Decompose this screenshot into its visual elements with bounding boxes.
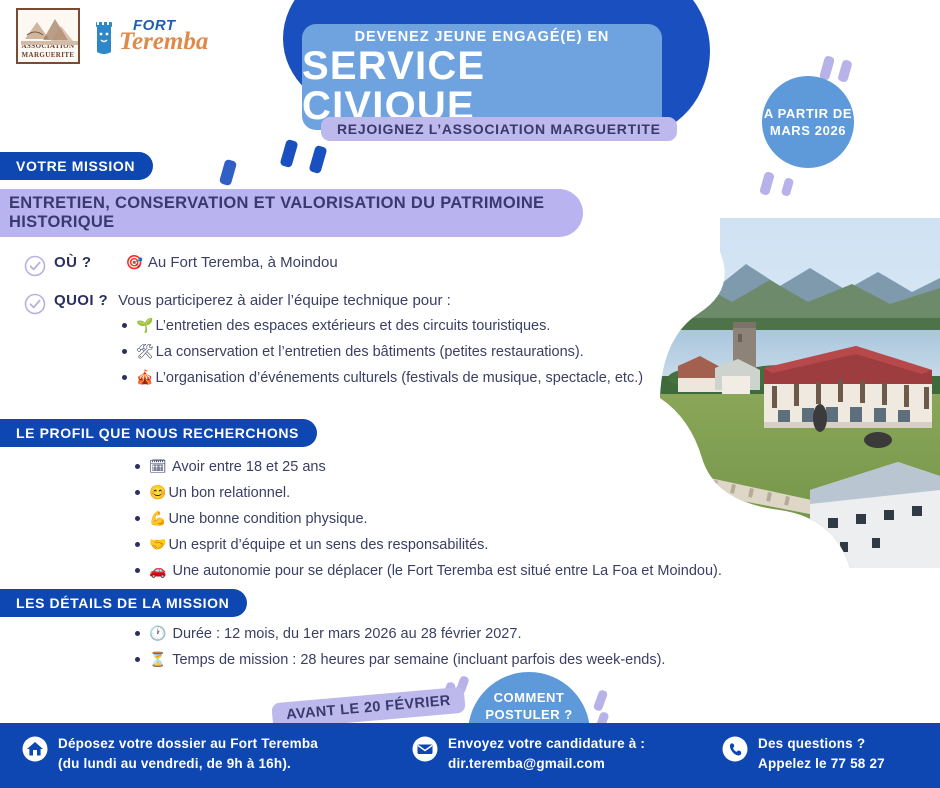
association-sketch-icon <box>21 13 79 45</box>
list-item: 🗓 Avoir entre 18 et 25 ans <box>133 455 833 479</box>
list-item: ⏳ Temps de mission : 28 heures par semai… <box>133 648 833 672</box>
fort-logo-word2: Teremba <box>119 29 208 54</box>
list-item-text: Durée : 12 mois, du 1er mars 2026 au 28 … <box>172 626 521 642</box>
what-label: QUOI ? <box>54 292 108 309</box>
handshake-icon: 🤝 <box>149 536 166 552</box>
badge-line2: MARS 2026 <box>770 122 846 139</box>
hourglass-icon: ⏳ <box>149 651 166 667</box>
footer-phone-number[interactable]: Appelez le 77 58 27 <box>758 754 885 774</box>
list-item-text: Avoir entre 18 et 25 ans <box>172 459 326 475</box>
smiley-icon: 😊 <box>149 484 166 500</box>
details-list: 🕐 Durée : 12 mois, du 1er mars 2026 au 2… <box>133 622 833 674</box>
calendar-icon: 🗓 <box>149 458 167 474</box>
list-item: 🤝Un esprit d’équipe et un sens des respo… <box>133 533 833 557</box>
list-item: 🚗 Une autonomie pour se déplacer (le For… <box>133 559 833 583</box>
list-item: 🕐 Durée : 12 mois, du 1er mars 2026 au 2… <box>133 622 833 646</box>
list-item: 🛠La conservation et l’entretien des bâti… <box>120 340 680 364</box>
header-kicker: DEVENEZ JEUNE ENGAGÉ(E) EN <box>355 29 610 45</box>
clock-icon: 🕐 <box>149 625 166 641</box>
list-item: 😊Un bon relationnel. <box>133 481 833 505</box>
header-dash-3 <box>280 139 299 168</box>
footer-mail-address[interactable]: dir.teremba@gmail.com <box>448 754 645 774</box>
check-circle-icon <box>24 293 46 315</box>
badge-dash-2 <box>837 59 853 83</box>
apply-circle-line1: COMMENT <box>494 689 565 706</box>
apply-circle-line2: POSTULER ? <box>485 706 572 723</box>
seedling-icon: 🌱 <box>136 317 153 333</box>
section-tag-details: LES DÉTAILS DE LA MISSION <box>0 589 247 617</box>
fort-teremba-tower-icon <box>94 16 114 56</box>
car-icon: 🚗 <box>149 562 166 578</box>
footer-phone-line1: Des questions ? <box>758 734 885 754</box>
envelope-icon <box>412 736 438 762</box>
badge-dash-3 <box>759 171 775 196</box>
list-item-text: La conservation et l’entretien des bâtim… <box>156 344 584 360</box>
list-item-text: Une bonne condition physique. <box>168 511 367 527</box>
logo-bar: ASSOCIATION MARGUERITE FORT Teremba <box>16 8 208 64</box>
footer-phone-item[interactable]: Des questions ? Appelez le 77 58 27 <box>722 734 885 774</box>
target-icon: 🎯 <box>125 254 142 271</box>
tools-icon: 🛠 <box>136 343 154 359</box>
muscle-icon: 💪 <box>149 510 166 526</box>
start-date-badge: A PARTIR DE MARS 2026 <box>762 76 854 168</box>
where-value: Au Fort Teremba, à Moindou <box>148 254 338 271</box>
list-item: 🌱L’entretien des espaces extérieurs et d… <box>120 314 680 338</box>
badge-line1: A PARTIR DE <box>764 105 852 122</box>
list-item-text: Temps de mission : 28 heures par semaine… <box>172 652 665 668</box>
association-logo-line2: MARGUERITE <box>21 51 74 60</box>
mission-banner: ENTRETIEN, CONSERVATION ET VALORISATION … <box>0 189 583 237</box>
what-intro: Vous participerez à aider l’équipe techn… <box>118 292 451 309</box>
where-label: OÙ ? <box>54 254 91 271</box>
footer-mail-line1: Envoyez votre candidature à : <box>448 734 645 754</box>
poster-root: ASSOCIATION MARGUERITE FORT Teremba <box>0 0 940 788</box>
header-dash-5 <box>219 159 237 186</box>
home-icon <box>22 736 48 762</box>
title-card: DEVENEZ JEUNE ENGAGÉ(E) EN SERVICE CIVIQ… <box>302 24 662 130</box>
page-title: SERVICE CIVIQUE <box>302 46 662 126</box>
header-dash-4 <box>309 145 328 174</box>
list-item-text: L’entretien des espaces extérieurs et de… <box>155 318 550 334</box>
footer-mail-item[interactable]: Envoyez votre candidature à : dir.teremb… <box>412 734 645 774</box>
footer-drop-line2: (du lundi au vendredi, de 9h à 16h). <box>58 754 318 774</box>
apply-dash-3 <box>593 689 609 712</box>
association-marguerite-logo: ASSOCIATION MARGUERITE <box>16 8 80 64</box>
list-item-text: Un esprit d’équipe et un sens des respon… <box>168 537 488 553</box>
badge-dash-4 <box>781 177 795 197</box>
phone-icon <box>722 736 748 762</box>
list-item-text: L’organisation d’événements culturels (f… <box>155 370 643 386</box>
list-item-text: Un bon relationnel. <box>168 485 290 501</box>
section-tag-mission: VOTRE MISSION <box>0 152 153 180</box>
footer-bar: Déposez votre dossier au Fort Teremba (d… <box>0 723 940 788</box>
festival-icon: 🎪 <box>136 369 153 385</box>
row-where: OÙ ? 🎯 Au Fort Teremba, à Moindou <box>24 254 338 277</box>
header-subtitle-pill: REJOIGNEZ L’ASSOCIATION MARGUERTITE <box>321 117 677 141</box>
list-item: 💪Une bonne condition physique. <box>133 507 833 531</box>
fort-teremba-logo: FORT Teremba <box>94 16 208 56</box>
profile-list: 🗓 Avoir entre 18 et 25 ans 😊Un bon relat… <box>133 455 833 585</box>
section-tag-profile: LE PROFIL QUE NOUS RECHERCHONS <box>0 419 317 447</box>
row-what: QUOI ? Vous participerez à aider l’équip… <box>24 292 451 315</box>
what-list: 🌱L’entretien des espaces extérieurs et d… <box>120 314 680 392</box>
footer-drop-line1: Déposez votre dossier au Fort Teremba <box>58 734 318 754</box>
check-circle-icon <box>24 255 46 277</box>
list-item: 🎪L’organisation d’événements culturels (… <box>120 366 680 390</box>
footer-drop-item: Déposez votre dossier au Fort Teremba (d… <box>22 734 318 774</box>
list-item-text: Une autonomie pour se déplacer (le Fort … <box>172 563 721 579</box>
mission-banner-text: ENTRETIEN, CONSERVATION ET VALORISATION … <box>0 194 583 232</box>
